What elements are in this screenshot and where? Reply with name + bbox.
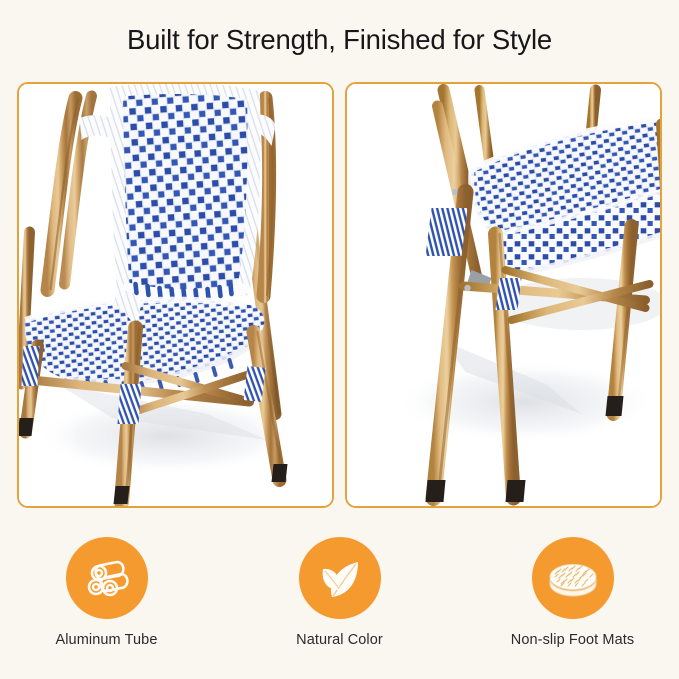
feature-item-aluminum-tube: Aluminum Tube [22,537,192,648]
chair-seat-underside-photo [347,84,660,506]
photo-panel-row [17,82,662,508]
feature-item-natural-color: Natural Color [255,537,425,648]
page-title: Built for Strength, Finished for Style [0,24,679,56]
chair-rear-three-quarter-photo [19,84,332,506]
feature-label-foot-mats: Non-slip Foot Mats [511,632,634,648]
photo-panel-left [17,82,334,508]
feature-label-aluminum-tube: Aluminum Tube [55,632,157,648]
feature-label-natural-color: Natural Color [296,632,383,648]
photo-panel-right [345,82,662,508]
leaf-icon [299,537,381,619]
foot-mat-icon [532,537,614,619]
feature-item-foot-mats: Non-slip Foot Mats [488,537,658,648]
aluminum-tube-icon [66,537,148,619]
feature-row: Aluminum Tube Natural Color [0,537,679,648]
product-feature-graphic: Built for Strength, Finished for Style [0,0,679,679]
